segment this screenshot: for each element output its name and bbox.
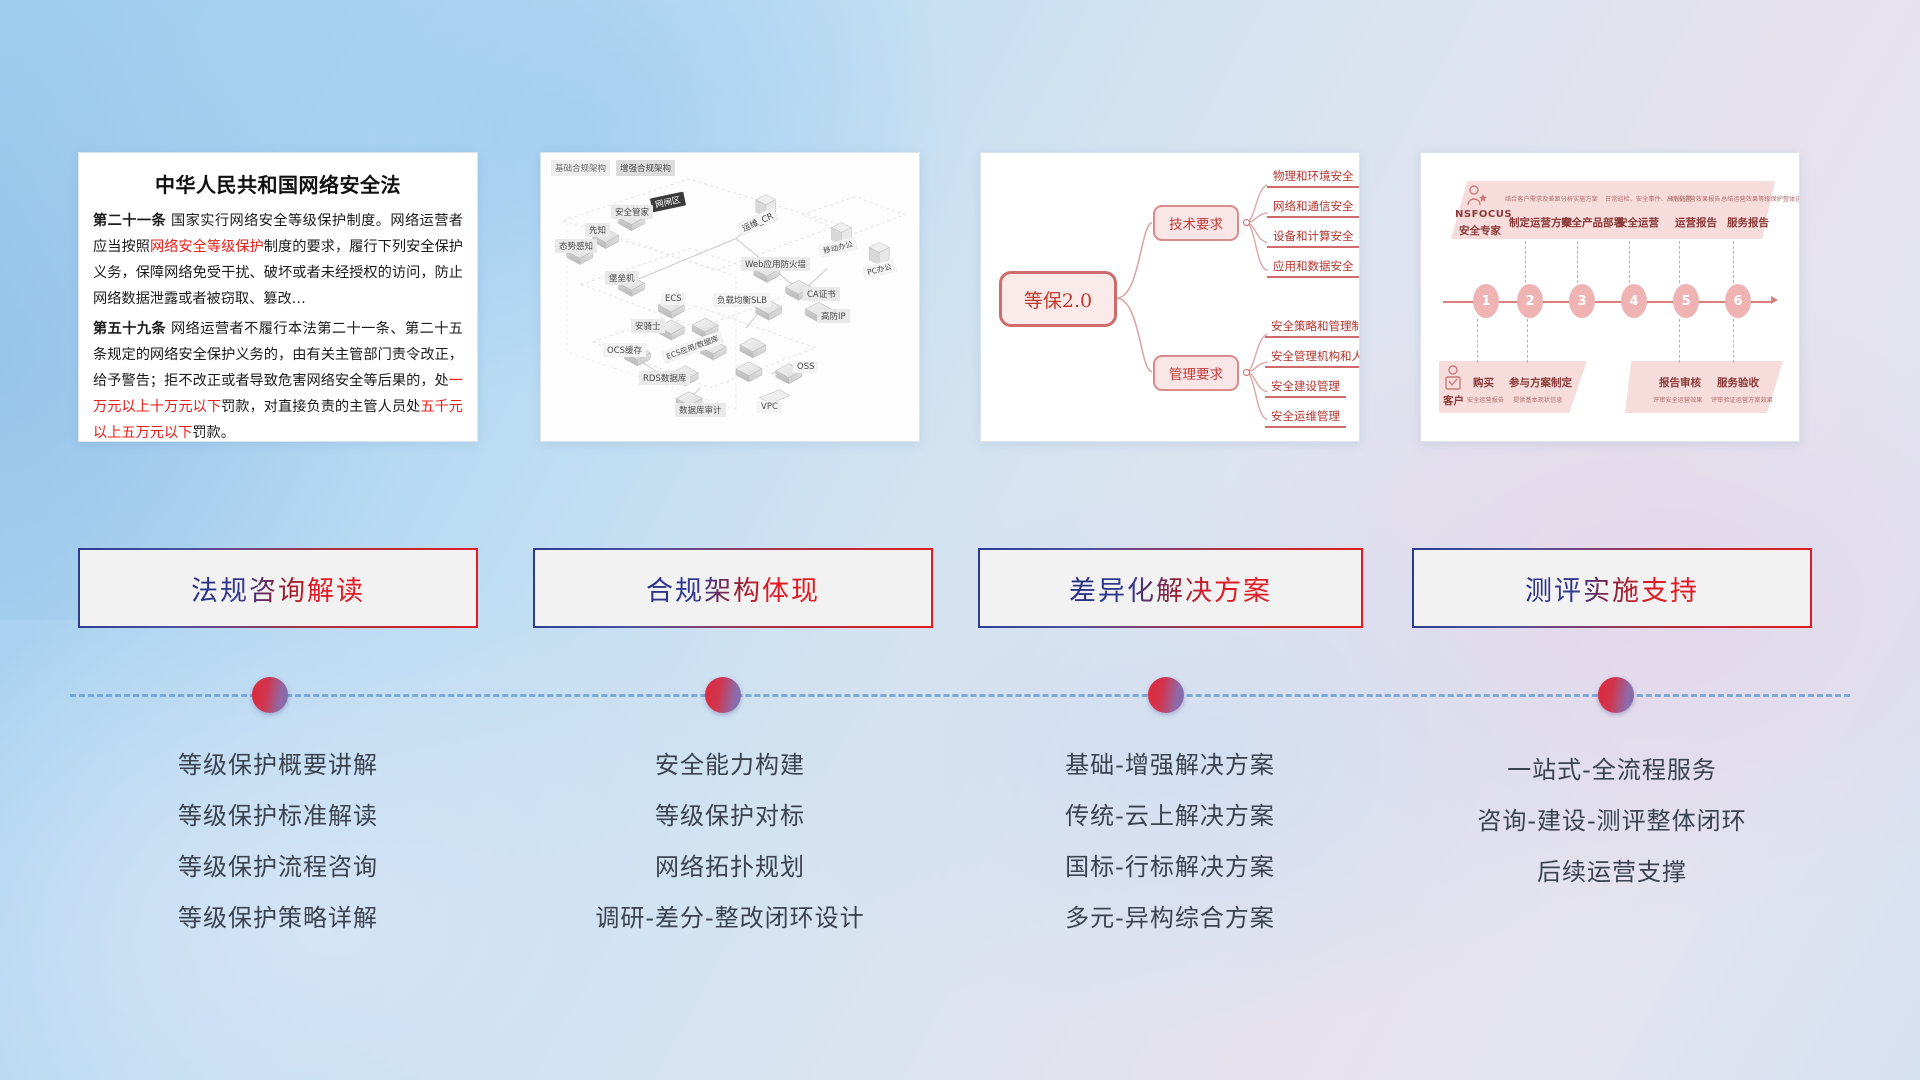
- list-item: 国标-行标解决方案: [965, 842, 1375, 893]
- list-item: 等级保护流程咨询: [78, 842, 478, 893]
- list-item: 调研-差分-整改闭环设计: [520, 893, 940, 944]
- item-list-2: 安全能力构建 等级保护对标 网络拓扑规划 调研-差分-整改闭环设计: [520, 740, 940, 944]
- section-item-lists: 等级保护概要讲解 等级保护标准解读 等级保护流程咨询 等级保护策略详解 安全能力…: [0, 0, 1920, 1080]
- list-item: 一站式-全流程服务: [1402, 745, 1822, 796]
- list-item: 等级保护标准解读: [78, 791, 478, 842]
- item-list-4: 一站式-全流程服务 咨询-建设-测评整体闭环 后续运营支撑: [1402, 745, 1822, 898]
- list-item: 多元-异构综合方案: [965, 893, 1375, 944]
- list-item: 基础-增强解决方案: [965, 740, 1375, 791]
- list-item: 咨询-建设-测评整体闭环: [1402, 796, 1822, 847]
- list-item: 传统-云上解决方案: [965, 791, 1375, 842]
- list-item: 等级保护对标: [520, 791, 940, 842]
- item-list-3: 基础-增强解决方案 传统-云上解决方案 国标-行标解决方案 多元-异构综合方案: [965, 740, 1375, 944]
- list-item: 安全能力构建: [520, 740, 940, 791]
- list-item: 网络拓扑规划: [520, 842, 940, 893]
- list-item: 后续运营支撑: [1402, 847, 1822, 898]
- list-item: 等级保护策略详解: [78, 893, 478, 944]
- item-list-1: 等级保护概要讲解 等级保护标准解读 等级保护流程咨询 等级保护策略详解: [78, 740, 478, 944]
- list-item: 等级保护概要讲解: [78, 740, 478, 791]
